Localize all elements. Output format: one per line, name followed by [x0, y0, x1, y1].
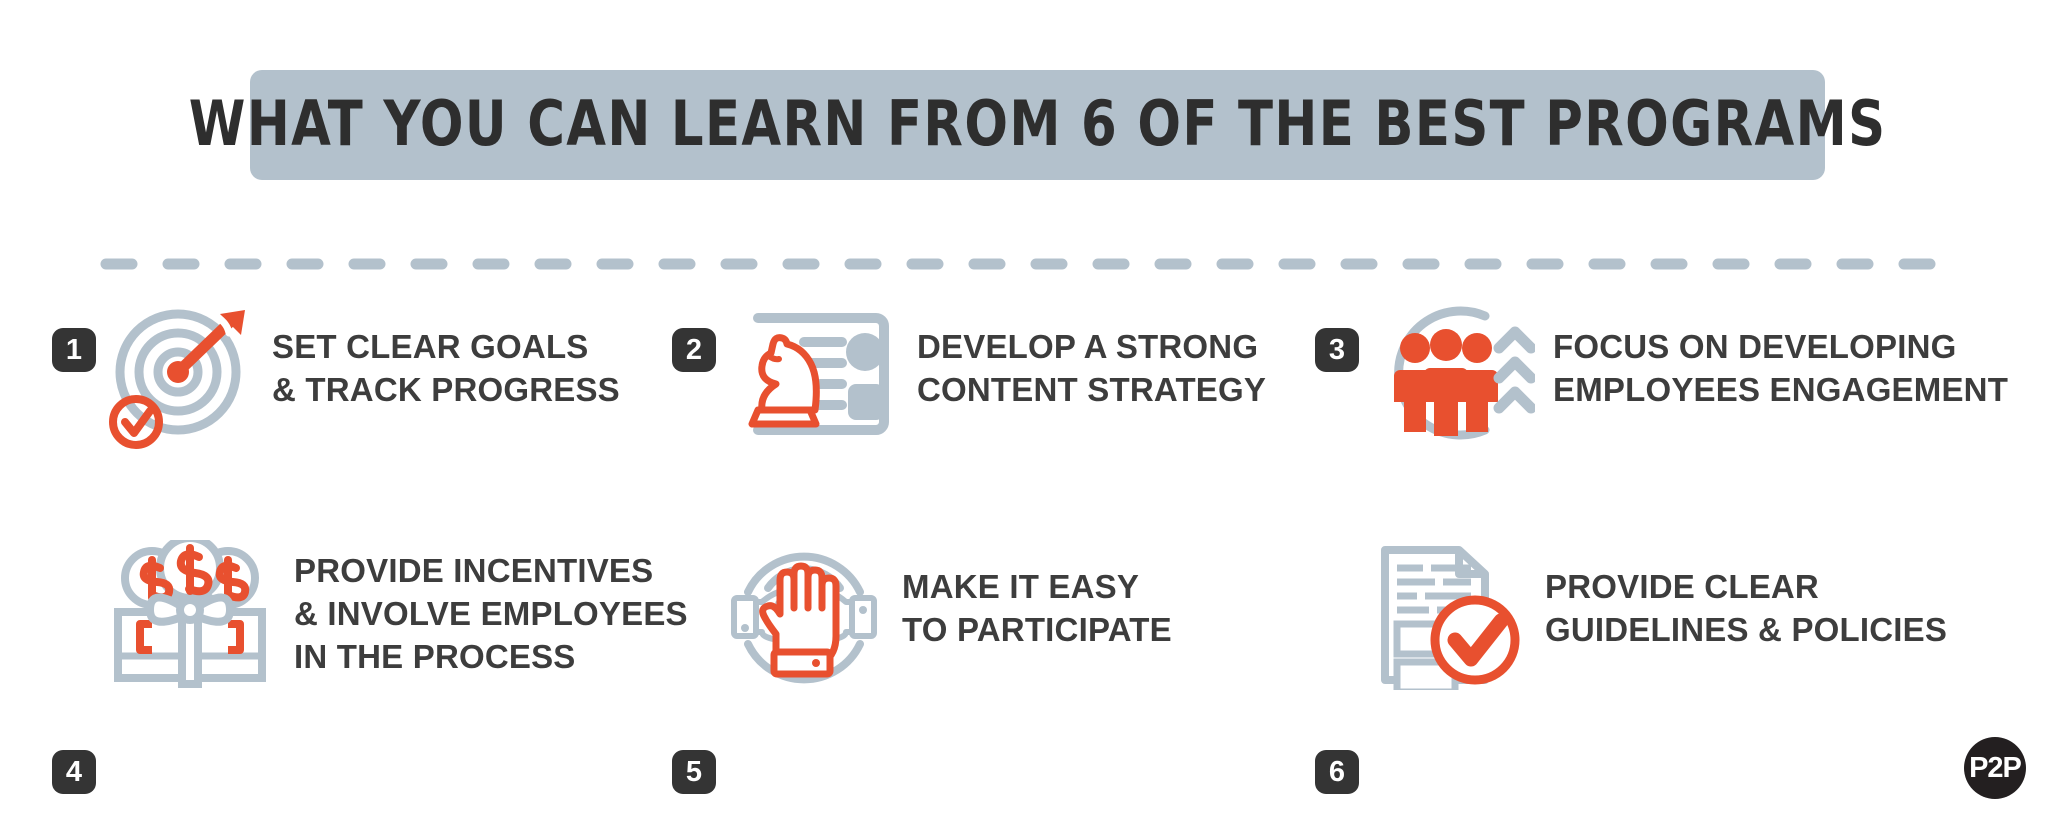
list-item-label: FOCUS ON DEVELOPING EMPLOYEES ENGAGEMENT	[1535, 300, 2008, 412]
document-check-icon	[1367, 540, 1527, 690]
label-line: GUIDELINES & POLICIES	[1545, 609, 1947, 652]
chess-knight-document-icon	[724, 300, 899, 450]
label-line: IN THE PROCESS	[294, 636, 688, 679]
list-item-label: PROVIDE CLEAR GUIDELINES & POLICIES	[1527, 540, 1947, 652]
label-line: DEVELOP A STRONG	[917, 326, 1266, 369]
page-title-container: WHAT YOU CAN LEARN FROM 6 OF THE BEST PR…	[250, 70, 1825, 180]
label-line: EMPLOYEES ENGAGEMENT	[1553, 369, 2008, 412]
item-number-badge: 3	[1315, 328, 1359, 372]
label-line: MAKE IT EASY	[902, 566, 1172, 609]
list-item-label: MAKE IT EASY TO PARTICIPATE	[884, 540, 1172, 652]
label-line: PROVIDE INCENTIVES	[294, 550, 688, 593]
list-item-label: DEVELOP A STRONG CONTENT STRATEGY	[899, 300, 1266, 412]
dashed-divider	[100, 258, 1960, 270]
list-item: 4	[52, 540, 688, 690]
target-arrow-check-icon	[104, 300, 254, 450]
label-line: TO PARTICIPATE	[902, 609, 1172, 652]
item-number-badge: 1	[52, 328, 96, 372]
p2p-logo-text: P2P	[1969, 754, 2021, 783]
title-bar: WHAT YOU CAN LEARN FROM 6 OF THE BEST PR…	[250, 70, 1825, 180]
label-line: SET CLEAR GOALS	[272, 326, 620, 369]
page-title: WHAT YOU CAN LEARN FROM 6 OF THE BEST PR…	[189, 93, 1887, 158]
list-item: 6	[1315, 540, 1947, 690]
item-number-badge: 5	[672, 750, 716, 794]
item-number-badge: 6	[1315, 750, 1359, 794]
label-line: FOCUS ON DEVELOPING	[1553, 326, 2008, 369]
coins-gift-box-icon	[104, 540, 276, 690]
list-item: 1 SET CLEAR GOALS & TRACK PROGRESS	[52, 300, 620, 450]
list-item-label: PROVIDE INCENTIVES & INVOLVE EMPLOYEES I…	[276, 540, 688, 679]
item-number-badge: 2	[672, 328, 716, 372]
people-growth-arrows-icon	[1367, 300, 1535, 450]
label-line: CONTENT STRATEGY	[917, 369, 1266, 412]
list-item-label: SET CLEAR GOALS & TRACK PROGRESS	[254, 300, 620, 412]
items-grid: 1 SET CLEAR GOALS & TRACK PROGRESS	[0, 300, 2048, 770]
list-item: 5	[672, 540, 1172, 690]
hands-together-icon	[724, 540, 884, 690]
label-line: & INVOLVE EMPLOYEES	[294, 593, 688, 636]
p2p-logo: P2P	[1964, 737, 2026, 799]
list-item: 2 DEVELOP A STRONG CONTENT	[672, 300, 1266, 450]
item-number-badge: 4	[52, 750, 96, 794]
list-item: 3 FOCUS ON DEVEL	[1315, 300, 2008, 450]
label-line: PROVIDE CLEAR	[1545, 566, 1947, 609]
label-line: & TRACK PROGRESS	[272, 369, 620, 412]
